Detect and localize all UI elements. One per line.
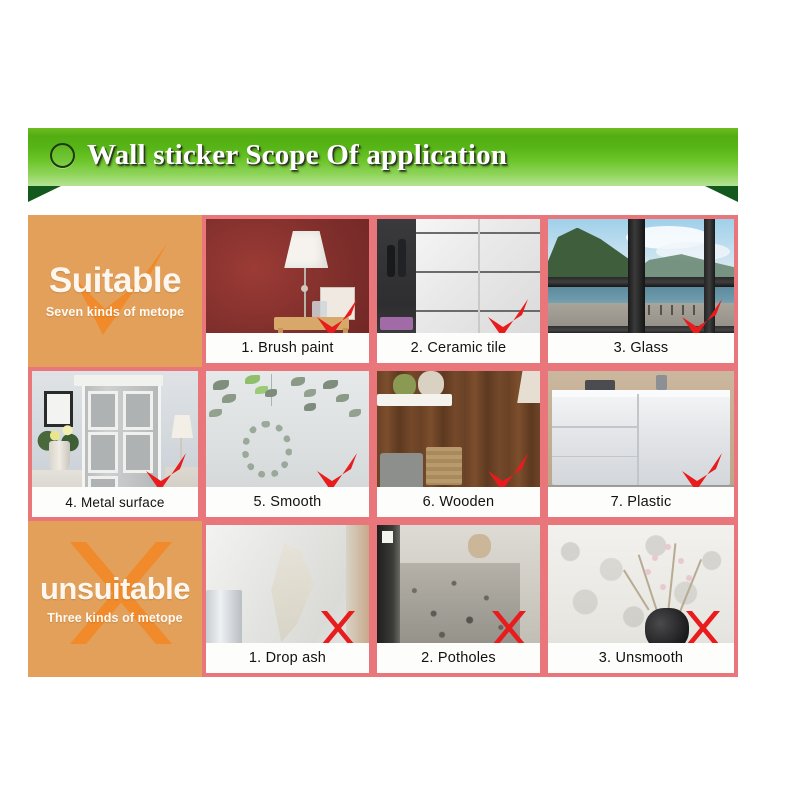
suitable-art: Suitable Seven kinds of metope: [28, 215, 202, 367]
cell-caption: 3. Glass: [548, 333, 734, 363]
cell-caption: 1. Drop ash: [206, 643, 369, 673]
application-cell-smooth[interactable]: 5. Smooth: [202, 367, 373, 521]
unsuitable-label-cell: unsuitable Three kinds of metope: [28, 521, 202, 677]
suitable-subtitle: Seven kinds of metope: [28, 305, 202, 319]
unsuitable-subtitle: Three kinds of metope: [28, 611, 202, 625]
cell-caption: 1. Brush paint: [206, 333, 369, 363]
banner-content: Wall sticker Scope Of application: [28, 139, 507, 172]
application-grid: Suitable Seven kinds of metope: [28, 215, 738, 677]
cell-caption: 4. Metal surface: [32, 487, 198, 517]
cell-caption: 7. Plastic: [548, 487, 734, 517]
ribbon-tail-left-icon: [28, 186, 61, 202]
suitable-label-cell: Suitable Seven kinds of metope: [28, 215, 202, 367]
header-banner: Wall sticker Scope Of application: [28, 128, 738, 186]
application-cell-unsmooth[interactable]: 3. Unsmooth: [544, 521, 738, 677]
cell-caption: 3. Unsmooth: [548, 643, 734, 673]
unsuitable-art: unsuitable Three kinds of metope: [28, 521, 202, 677]
cell-caption: 6. Wooden: [377, 487, 540, 517]
application-cell-plastic[interactable]: 7. Plastic: [544, 367, 738, 521]
unsuitable-title: unsuitable: [28, 573, 202, 604]
banner-bar: Wall sticker Scope Of application: [28, 128, 738, 186]
cell-caption: 2. Ceramic tile: [377, 333, 540, 363]
application-cell-potholes[interactable]: 2. Potholes: [373, 521, 544, 677]
circle-outline-icon: [50, 143, 75, 168]
ribbon-tail-right-icon: [705, 186, 738, 202]
page-root: Wall sticker Scope Of application Suitab…: [0, 0, 800, 800]
application-cell-metal-surface[interactable]: 4. Metal surface: [28, 367, 202, 521]
application-cell-ceramic-tile[interactable]: 2. Ceramic tile: [373, 215, 544, 367]
cell-caption: 2. Potholes: [377, 643, 540, 673]
application-cell-glass[interactable]: 3. Glass: [544, 215, 738, 367]
cell-caption: 5. Smooth: [206, 487, 369, 517]
application-cell-brush-paint[interactable]: 1. Brush paint: [202, 215, 373, 367]
application-cell-wooden[interactable]: 6. Wooden: [373, 367, 544, 521]
application-cell-drop-ash[interactable]: 1. Drop ash: [202, 521, 373, 677]
page-title: Wall sticker Scope Of application: [87, 139, 507, 172]
suitable-text: Suitable Seven kinds of metope: [28, 263, 202, 319]
unsuitable-text: unsuitable Three kinds of metope: [28, 573, 202, 625]
suitable-title: Suitable: [28, 263, 202, 298]
